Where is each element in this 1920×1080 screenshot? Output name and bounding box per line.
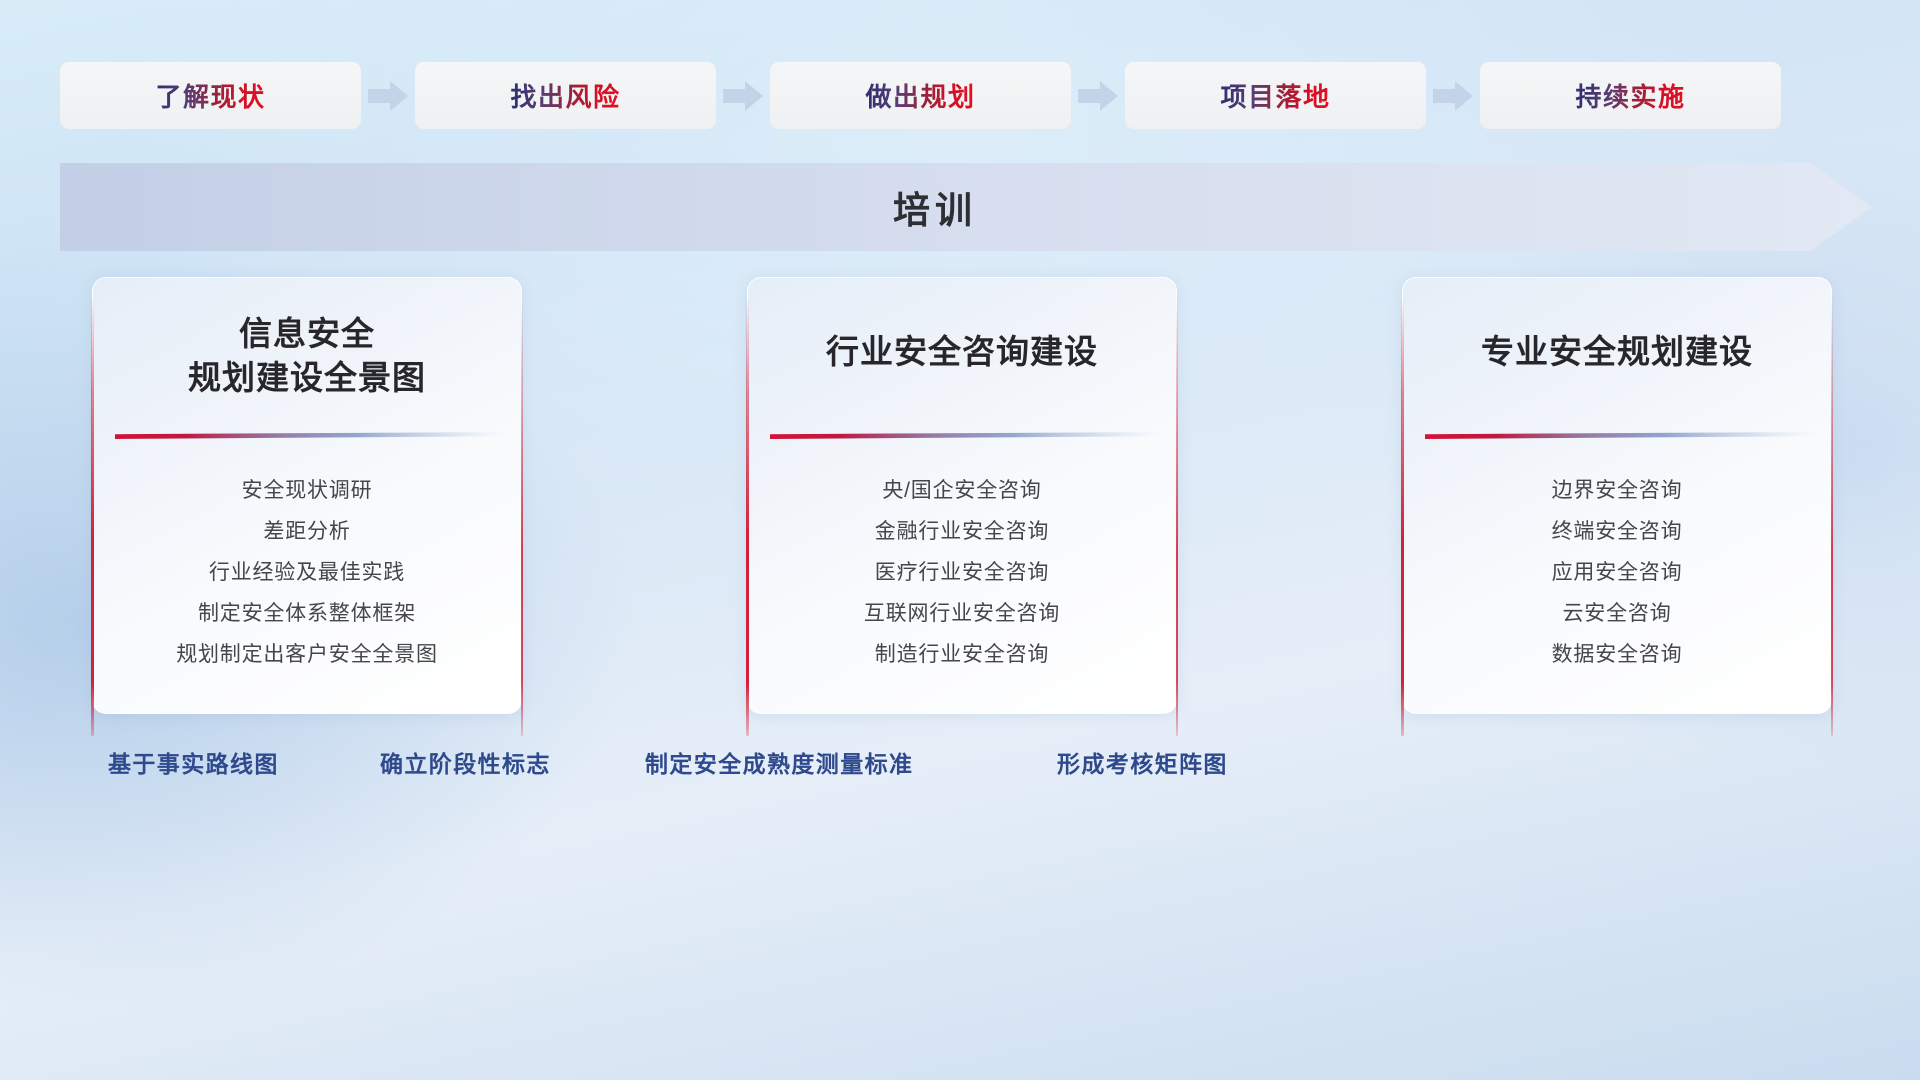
- list-item: 终端安全咨询: [1403, 511, 1831, 552]
- flow-step-5[interactable]: 持续实施: [1480, 62, 1781, 129]
- flow-step-label: 找出风险: [510, 77, 620, 114]
- flow-step-4[interactable]: 项目落地: [1125, 62, 1426, 129]
- list-item: 互联网行业安全咨询: [748, 593, 1176, 634]
- card-industry-security-consulting[interactable]: 行业安全咨询建设: [747, 277, 1177, 714]
- list-item: 医疗行业安全咨询: [748, 552, 1176, 593]
- bottom-label-3: 制定安全成熟度测量标准: [645, 745, 913, 779]
- card-divider: [1425, 432, 1817, 439]
- flow-step-label: 项目落地: [1220, 77, 1330, 114]
- card-title: 信息安全 规划建设全景图: [93, 312, 521, 399]
- slide-canvas: 了解现状 找出风险 做出规划 项目落地: [0, 0, 1920, 1080]
- cards-row: 信息安全 规划建设全景图: [92, 277, 1832, 714]
- card-title: 专业安全规划建设: [1403, 330, 1831, 374]
- bottom-labels-row: 基于事实路线图 确立阶段性标志 制定安全成熟度测量标准 形成考核矩阵图: [0, 745, 1920, 789]
- card-list: 边界安全咨询 终端安全咨询 应用安全咨询 云安全咨询 数据安全咨询: [1403, 470, 1831, 675]
- bottom-label-2: 确立阶段性标志: [380, 745, 551, 779]
- list-item: 安全现状调研: [93, 470, 521, 511]
- list-item: 金融行业安全咨询: [748, 511, 1176, 552]
- flow-step-1[interactable]: 了解现状: [60, 62, 361, 129]
- card-title: 行业安全咨询建设: [748, 330, 1176, 374]
- card-divider: [115, 432, 507, 439]
- list-item: 应用安全咨询: [1403, 552, 1831, 593]
- card-list: 央/国企安全咨询 金融行业安全咨询 医疗行业安全咨询 互联网行业安全咨询 制造行…: [748, 470, 1176, 675]
- arrow-right-icon: [1428, 76, 1478, 116]
- card-information-security-blueprint[interactable]: 信息安全 规划建设全景图: [92, 277, 522, 714]
- training-label: 培训: [60, 163, 1810, 251]
- training-banner: 培训: [60, 163, 1872, 251]
- flow-step-label: 了解现状: [155, 77, 265, 114]
- flow-step-2[interactable]: 找出风险: [415, 62, 716, 129]
- arrow-right-icon: [718, 76, 768, 116]
- bottom-label-1: 基于事实路线图: [108, 745, 279, 779]
- card-professional-security-planning[interactable]: 专业安全规划建设: [1402, 277, 1832, 714]
- list-item: 数据安全咨询: [1403, 634, 1831, 675]
- arrow-right-icon: [363, 76, 413, 116]
- list-item: 行业经验及最佳实践: [93, 552, 521, 593]
- process-flow-row: 了解现状 找出风险 做出规划 项目落地: [60, 62, 1870, 129]
- flow-step-label: 做出规划: [865, 77, 975, 114]
- list-item: 制造行业安全咨询: [748, 634, 1176, 675]
- list-item: 边界安全咨询: [1403, 470, 1831, 511]
- list-item: 差距分析: [93, 511, 521, 552]
- arrow-right-icon: [1073, 76, 1123, 116]
- bottom-label-4: 形成考核矩阵图: [1057, 745, 1228, 779]
- list-item: 规划制定出客户安全全景图: [93, 634, 521, 675]
- flow-step-3[interactable]: 做出规划: [770, 62, 1071, 129]
- list-item: 央/国企安全咨询: [748, 470, 1176, 511]
- card-list: 安全现状调研 差距分析 行业经验及最佳实践 制定安全体系整体框架 规划制定出客户…: [93, 470, 521, 675]
- flow-step-label: 持续实施: [1575, 77, 1685, 114]
- list-item: 云安全咨询: [1403, 593, 1831, 634]
- card-divider: [770, 432, 1162, 439]
- list-item: 制定安全体系整体框架: [93, 593, 521, 634]
